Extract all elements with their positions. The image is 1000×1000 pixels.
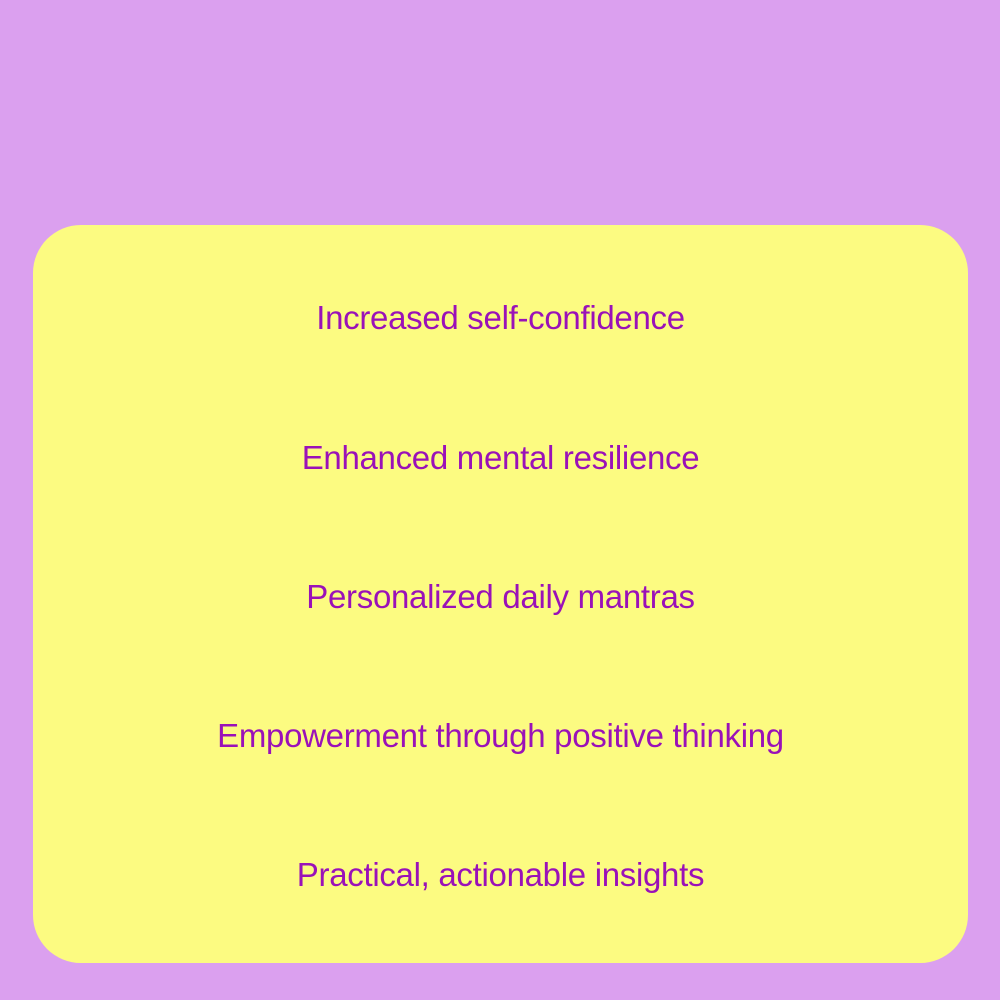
list-item: Practical, actionable insights bbox=[63, 806, 938, 945]
list-item: Empowerment through positive thinking bbox=[63, 667, 938, 806]
benefit-label: Practical, actionable insights bbox=[297, 857, 704, 893]
list-item: Personalized daily mantras bbox=[63, 527, 938, 666]
list-item: Enhanced mental resilience bbox=[63, 388, 938, 527]
benefits-card: Increased self-confidence Enhanced menta… bbox=[33, 225, 968, 963]
list-item: Increased self-confidence bbox=[63, 249, 938, 388]
poster-canvas: what you’ll learn inside Increased self-… bbox=[0, 0, 1000, 1000]
benefit-label: Empowerment through positive thinking bbox=[217, 718, 784, 754]
benefit-label: Personalized daily mantras bbox=[306, 579, 694, 615]
benefit-label: Enhanced mental resilience bbox=[302, 440, 700, 476]
benefits-list: Increased self-confidence Enhanced menta… bbox=[63, 249, 938, 945]
benefit-label: Increased self-confidence bbox=[316, 300, 685, 336]
